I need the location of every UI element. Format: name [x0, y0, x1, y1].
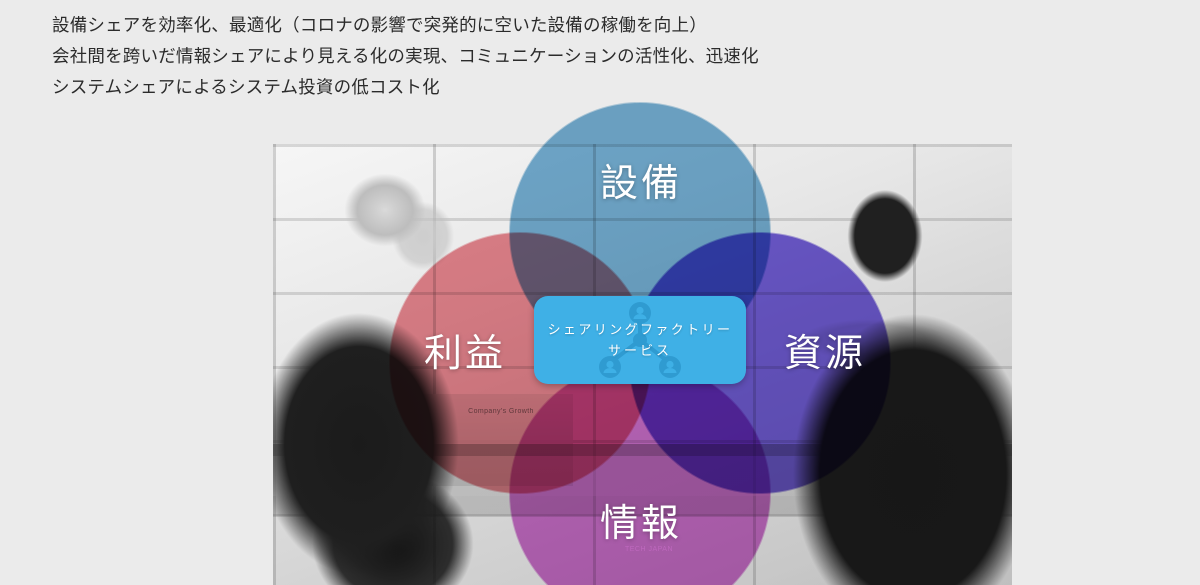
service-card-line2: サービス: [608, 342, 672, 359]
laptop-screen-caption: Company's Growth: [449, 408, 553, 415]
bullet-line-3: システムシェアによるシステム投資の低コスト化: [52, 72, 1052, 103]
service-card-line1: シェアリングファクトリー: [548, 321, 733, 338]
bullet-line-2: 会社間を跨いだ情報シェアにより見える化の実現、コミュニケーションの活性化、迅速化: [52, 41, 1052, 72]
photo-bottom-caption: TECH JAPAN: [589, 546, 709, 553]
sharing-factory-service-card: シェアリングファクトリー サービス: [534, 296, 746, 384]
service-card-text: シェアリングファクトリー サービス: [534, 296, 746, 384]
bullet-list: 設備シェアを効率化、最適化（コロナの影響で突発的に空いた設備の稼働を向上） 会社…: [52, 10, 1052, 103]
bullet-line-1: 設備シェアを効率化、最適化（コロナの影響で突発的に空いた設備の稼働を向上）: [52, 10, 1052, 41]
slide-canvas: 設備シェアを効率化、最適化（コロナの影響で突発的に空いた設備の稼働を向上） 会社…: [0, 0, 1200, 585]
